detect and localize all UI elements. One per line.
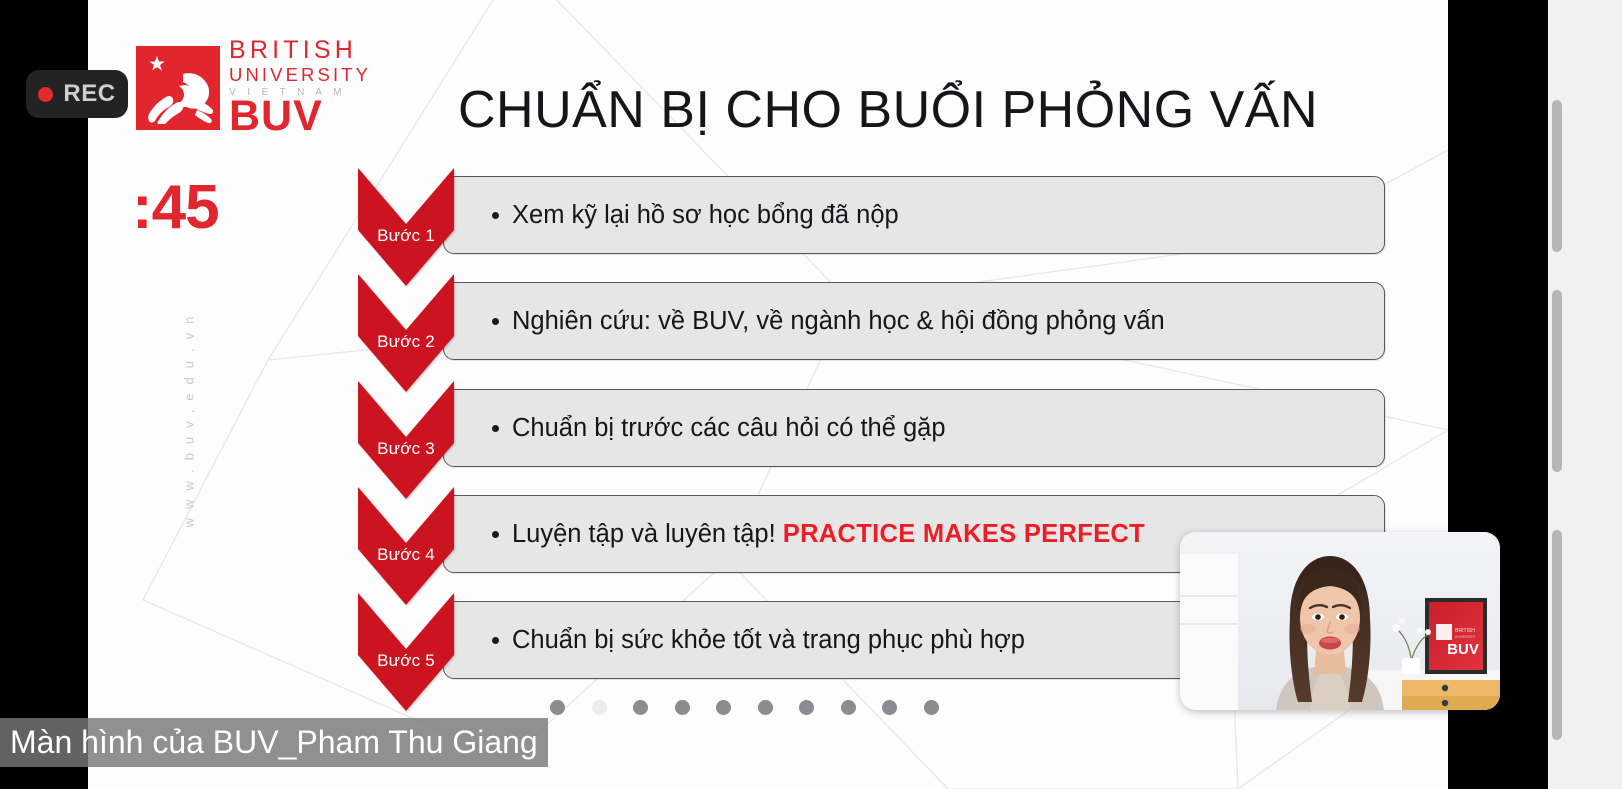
svg-text:UNIVERSITY: UNIVERSITY <box>1455 635 1476 639</box>
record-dot-icon <box>38 87 53 102</box>
bullet-dot-icon <box>492 425 499 432</box>
meeting-screen-share-view: BRITISH UNIVERSITY V I E T N A M BUV :45… <box>0 0 1622 789</box>
pagination-dot[interactable] <box>633 700 648 715</box>
scrollbar-thumb-1[interactable] <box>1552 100 1562 252</box>
pagination-dot[interactable] <box>799 700 814 715</box>
participant-video-thumbnail[interactable]: BRITISH UNIVERSITY BUV <box>1180 532 1500 710</box>
step-text-bar: Xem kỹ lại hồ sơ học bổng đã nộp <box>443 176 1385 254</box>
svg-text:BUV: BUV <box>1447 641 1479 658</box>
step-text-bar: Nghiên cứu: về BUV, về ngành học & hội đ… <box>443 282 1385 360</box>
pagination-dot[interactable] <box>716 700 731 715</box>
step-chevron-arrow: Bước 3 <box>358 381 454 499</box>
step-chevron-arrow: Bước 1 <box>358 168 454 286</box>
step-text: Luyện tập và luyên tập! PRACTICE MAKES P… <box>512 520 1145 549</box>
screen-share-caption-label: Màn hình của BUV_Pham Thu Giang <box>10 724 538 761</box>
step-text: Chuẩn bị sức khỏe tốt và trang phục phù … <box>512 626 1025 655</box>
pagination-dot[interactable] <box>882 700 897 715</box>
step-chevron-arrow: Bước 2 <box>358 274 454 392</box>
slide-pagination-dots[interactable] <box>550 700 939 715</box>
step-chevron-arrow: Bước 5 <box>358 593 454 711</box>
recording-badge: REC <box>26 70 128 118</box>
chevron-down-shape <box>358 168 454 286</box>
chevron-down-shape <box>358 487 454 605</box>
screen-share-caption: Màn hình của BUV_Pham Thu Giang <box>0 718 548 767</box>
scrollbar-thumb-3[interactable] <box>1552 530 1562 740</box>
pagination-dot[interactable] <box>550 700 565 715</box>
pagination-dot[interactable] <box>592 700 607 715</box>
recording-label: REC <box>63 80 115 108</box>
scrollbar-thumb-2[interactable] <box>1552 290 1562 472</box>
step-chevron-arrow: Bước 4 <box>358 487 454 605</box>
step-text: Xem kỹ lại hồ sơ học bổng đã nộp <box>512 201 899 230</box>
pagination-dot[interactable] <box>841 700 856 715</box>
chevron-down-shape <box>358 593 454 711</box>
step-text-highlight: PRACTICE MAKES PERFECT <box>783 520 1145 548</box>
bullet-dot-icon <box>492 531 499 538</box>
chevron-down-shape <box>358 381 454 499</box>
pagination-dot[interactable] <box>758 700 773 715</box>
participant-video-frame: BRITISH UNIVERSITY BUV <box>1180 532 1500 710</box>
right-side-panel <box>1548 0 1622 789</box>
chevron-down-shape <box>358 274 454 392</box>
bullet-dot-icon <box>492 637 499 644</box>
svg-text:BRITISH: BRITISH <box>1455 628 1475 634</box>
pagination-dot[interactable] <box>675 700 690 715</box>
step-text-bar: Chuẩn bị trước các câu hỏi có thể gặp <box>443 389 1385 467</box>
bullet-dot-icon <box>492 212 499 219</box>
bullet-dot-icon <box>492 318 499 325</box>
pagination-dot[interactable] <box>924 700 939 715</box>
step-text: Nghiên cứu: về BUV, về ngành học & hội đ… <box>512 307 1165 336</box>
step-text: Chuẩn bị trước các câu hỏi có thể gặp <box>512 414 946 443</box>
